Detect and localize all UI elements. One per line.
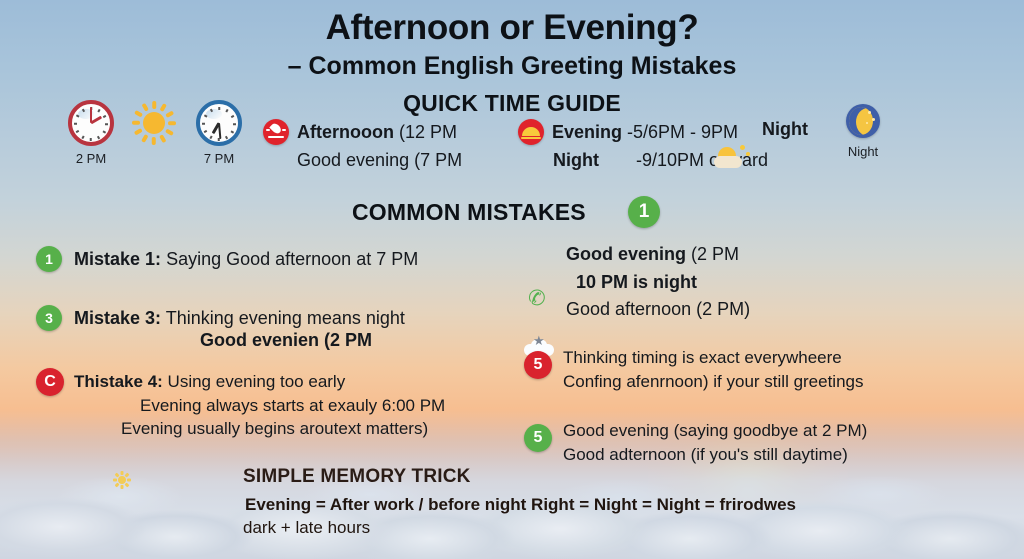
mistake-4-label: Thistake 4: xyxy=(74,372,163,391)
clock-blue-icon xyxy=(196,100,242,146)
clock-blue-label: 7 PM xyxy=(196,151,242,166)
memory-trick-line2: dark + late hours xyxy=(243,518,370,538)
right-item-3-line2: Confing afenrnoon) if your still greetin… xyxy=(563,372,864,392)
right-item-3-line1: Thinking timing is exact everywheere xyxy=(563,348,842,368)
phone-green-icon: ✆ xyxy=(527,287,547,310)
sun-bullet-icon xyxy=(113,471,131,489)
guide-term-afternoon: Afternooon xyxy=(297,122,394,142)
badge-mistake-4: C xyxy=(36,368,64,396)
mistake-row-3: 3 Mistake 3: Thinking evening means nigh… xyxy=(36,305,405,331)
mistake-3-text: Thinking evening means night xyxy=(166,308,405,328)
page-title: Afternoon or Evening? xyxy=(0,8,1024,48)
guide-detail-afternoon: (12 PM xyxy=(399,122,457,142)
left-sun-note-line1: Evening always starts at exauly 6:00 PM xyxy=(140,396,445,416)
right-item-2-text: Good afternoon (2 PM) xyxy=(566,299,750,320)
clock-red-label: 2 PM xyxy=(68,151,114,166)
mistake-3-label: Mistake 3: xyxy=(74,308,161,328)
guide-entry-afternoon: Afternooon (12 PM xyxy=(263,119,457,145)
left-sun-note-line2: Evening usually begins aroutext matters) xyxy=(121,419,428,439)
badge-right-5-red: 5 xyxy=(524,351,552,379)
night-tile-label: Night xyxy=(846,144,880,159)
guide-detail-good-evening: Good evening (7 PM xyxy=(297,150,462,171)
sun-behind-cloud-icon xyxy=(712,145,752,175)
right-item-4-line2: Good adternoon (if you's still daytime) xyxy=(563,445,848,465)
memory-trick-heading: SIMPLE MEMORY TRICK xyxy=(243,466,471,488)
clock-red-icon xyxy=(68,100,114,146)
right-item-1-text: (2 PM xyxy=(691,244,739,264)
droplet-red-icon xyxy=(263,119,289,145)
clock-blue-group: 7 PM xyxy=(196,100,242,166)
sun-icon xyxy=(132,101,176,145)
common-mistakes-heading-badge: 1 xyxy=(628,196,660,228)
mistake-1-text: Saying Good afternoon at 7 PM xyxy=(166,249,418,269)
common-mistakes-heading: COMMON MISTAKES xyxy=(352,199,586,226)
guide-detail-evening: -5/6PM - 9PM xyxy=(627,122,738,142)
clock-red-group: 2 PM xyxy=(68,100,114,166)
mistake-1-label: Mistake 1: xyxy=(74,249,161,269)
guide-term-night-top: Night xyxy=(762,119,808,140)
badge-mistake-3: 3 xyxy=(36,305,62,331)
right-item-1-sub: 10 PM is night xyxy=(576,272,697,293)
mistake-row-4: C Thistake 4: Using evening too early xyxy=(36,368,345,396)
right-item-1-bold: Good evening xyxy=(566,244,686,264)
night-tile: Night xyxy=(846,104,880,159)
mistake-4-text: Using evening too early xyxy=(168,372,346,391)
right-item-4-line1: Good evening (saying goodbye at 2 PM) xyxy=(563,421,867,441)
sunset-red-icon xyxy=(518,119,544,145)
guide-term-evening: Evening xyxy=(552,122,622,142)
moon-night-icon xyxy=(846,104,880,138)
badge-right-5-green: 5 xyxy=(524,424,552,452)
page-subtitle: – Common English Greeting Mistakes xyxy=(0,52,1024,81)
mistake-3-sub: Good evenien (2 PM xyxy=(200,330,372,351)
guide-term-night: Night xyxy=(553,150,599,171)
guide-entry-evening: Evening -5/6PM - 9PM xyxy=(518,119,738,145)
badge-mistake-1: 1 xyxy=(36,246,62,272)
mistake-row-1: 1 Mistake 1: Saying Good afternoon at 7 … xyxy=(36,246,418,272)
infographic-canvas: Afternoon or Evening? – Common English G… xyxy=(0,0,1024,559)
memory-trick-line1: Evening = After work / before night Righ… xyxy=(245,495,796,515)
